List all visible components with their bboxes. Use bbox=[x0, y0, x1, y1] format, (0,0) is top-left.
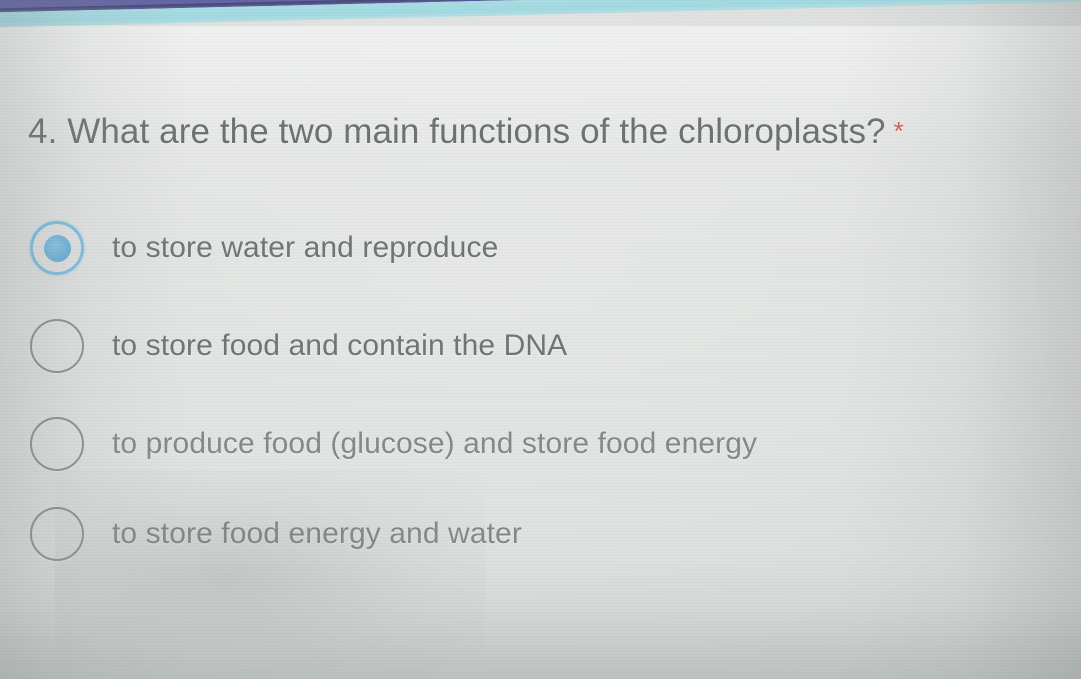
option-label: to produce food (glucose) and store food… bbox=[112, 427, 757, 461]
radio-button[interactable] bbox=[30, 507, 84, 561]
radio-button-selected[interactable] bbox=[30, 221, 84, 275]
option-row-0[interactable]: to store water and reproduce bbox=[28, 215, 1061, 281]
option-label: to store food and contain the DNA bbox=[112, 329, 567, 363]
option-row-3[interactable]: to store food energy and water bbox=[28, 501, 1061, 567]
question-text: What are the two main functions of the c… bbox=[67, 112, 885, 151]
option-label: to store water and reproduce bbox=[112, 231, 498, 265]
screen-photo: …a…s…r Ent… T TypingTest.com - Vi… L Lea… bbox=[0, 0, 1081, 679]
option-row-2[interactable]: to produce food (glucose) and store food… bbox=[28, 411, 1061, 477]
required-asterisk: * bbox=[894, 116, 904, 146]
option-label: to store food energy and water bbox=[112, 517, 522, 551]
radio-button[interactable] bbox=[30, 417, 84, 471]
answer-options-list: to store water and reproduce to store fo… bbox=[28, 215, 1061, 567]
option-row-1[interactable]: to store food and contain the DNA bbox=[28, 313, 1061, 379]
question-title: 4. What are the two main functions of th… bbox=[28, 112, 904, 152]
radio-button[interactable] bbox=[30, 319, 84, 373]
question-number: 4. bbox=[28, 112, 57, 151]
form-question-card: 4. What are the two main functions of th… bbox=[0, 40, 1081, 679]
